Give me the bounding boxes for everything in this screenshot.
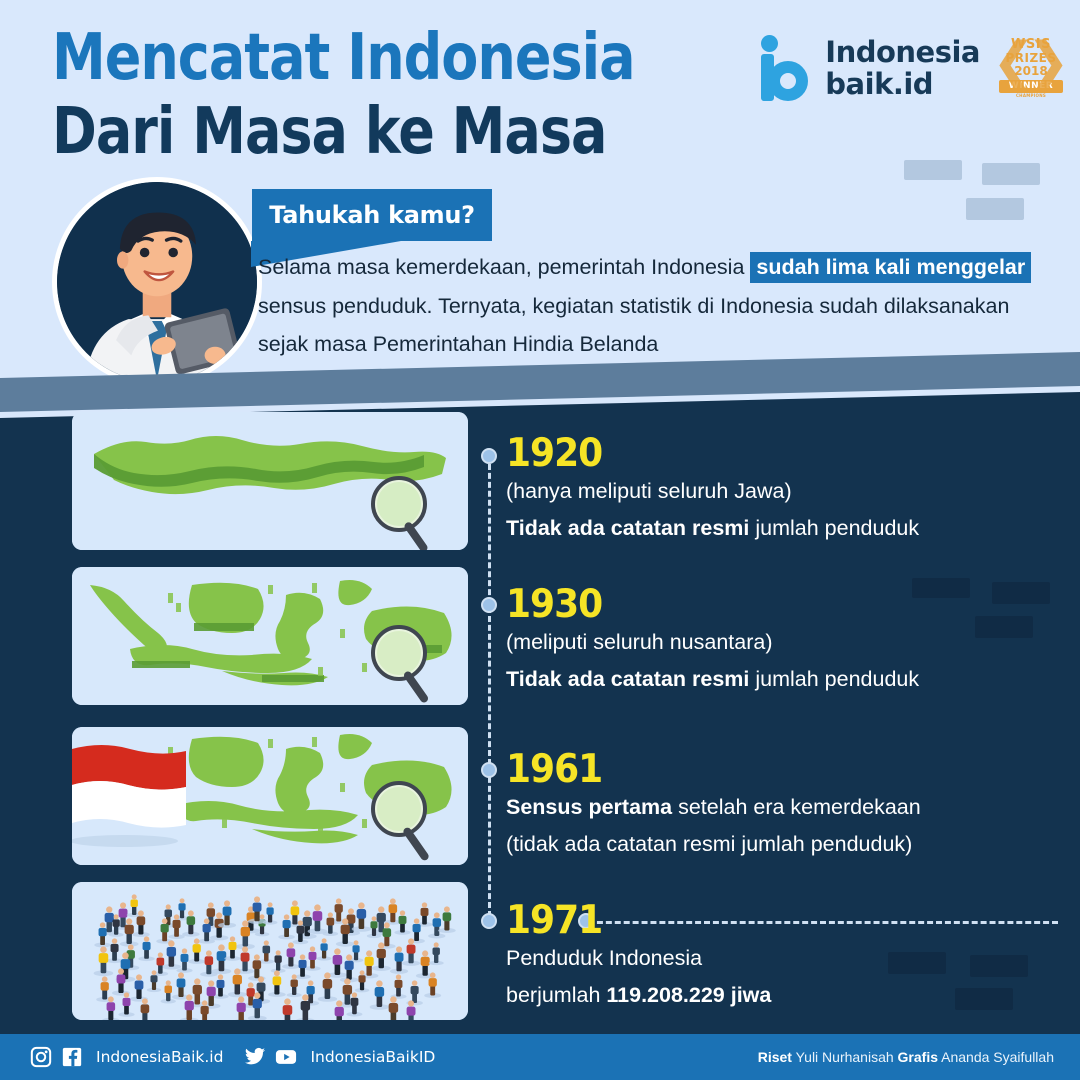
timeline-line-2: Tidak ada catatan resmi jumlah penduduk <box>506 664 1066 695</box>
title-line-1: Mencatat Indonesia <box>52 26 672 90</box>
intro-part-2: sensus penduduk. Ternyata, kegiatan stat… <box>258 294 1009 357</box>
map-indonesia-green-icon <box>72 567 468 705</box>
brand-name-line1: Indonesia <box>825 36 980 68</box>
timeline-dot-1930 <box>481 597 497 613</box>
card-image-1971 <box>72 882 468 1020</box>
redacted-block <box>904 160 962 180</box>
timeline-line-1: Sensus pertama setelah era kemerdekaan <box>506 792 1066 823</box>
wsis-award-badge-icon: ❮❯ WSIS PRIZES 2018 WINNER CHAMPIONS <box>994 28 1068 108</box>
map-indonesia-with-flag-icon <box>72 727 468 865</box>
social-handle-1: IndonesiaBaik.id <box>96 1048 223 1066</box>
timeline-line-2: (tidak ada catatan resmi jumlah penduduk… <box>506 829 1066 860</box>
card-image-1930 <box>72 567 468 705</box>
credit-name-1: Yuli Nurhanisah <box>792 1049 898 1065</box>
timeline-year: 1971 <box>506 901 1066 941</box>
redacted-block <box>982 163 1040 185</box>
award-subtitle: CHAMPIONS <box>999 94 1063 98</box>
timeline-line-2: Tidak ada catatan resmi jumlah penduduk <box>506 513 1066 544</box>
redacted-block <box>912 578 970 598</box>
instagram-icon[interactable] <box>30 1046 52 1068</box>
timeline-line-1-rest: setelah era kemerdekaan <box>672 795 921 819</box>
redacted-block <box>970 955 1028 977</box>
timeline-line-2-bold: 119.208.229 jiwa <box>606 983 771 1007</box>
tahukah-kamu-bubble: Tahukah kamu? <box>252 189 492 241</box>
map-java-green-icon <box>72 412 468 550</box>
intro-highlight: sudah lima kali menggelar <box>750 252 1031 283</box>
timeline-entry-1930: 1930 (meliputi seluruh nusantara) Tidak … <box>506 585 1066 695</box>
twitter-icon[interactable] <box>244 1046 266 1068</box>
redacted-block <box>966 198 1024 220</box>
timeline-year: 1920 <box>506 434 1066 474</box>
page-title: Mencatat Indonesia Dari Masa ke Masa <box>52 26 672 154</box>
timeline-entry-1920: 1920 (hanya meliputi seluruh Jawa) Tidak… <box>506 434 1066 544</box>
redacted-block <box>975 616 1033 638</box>
footer-bar: IndonesiaBaik.id IndonesiaBaikID Riset Y… <box>0 1034 1080 1080</box>
card-image-1920 <box>72 412 468 550</box>
timeline-line-2-rest: jumlah penduduk <box>749 667 919 691</box>
timeline-line-2-rest: jumlah penduduk <box>749 516 919 540</box>
timeline-dot-1961 <box>481 762 497 778</box>
social-links[interactable]: IndonesiaBaik.id IndonesiaBaikID <box>30 1046 447 1068</box>
timeline-entry-1961: 1961 Sensus pertama setelah era kemerdek… <box>506 750 1066 860</box>
credit-role-2: Grafis <box>898 1049 938 1065</box>
timeline-dot-1920 <box>481 448 497 464</box>
timeline-line-2-bold: Tidak ada catatan resmi <box>506 667 749 691</box>
indonesiabaik-logo-icon <box>759 35 811 101</box>
credits: Riset Yuli Nurhanisah Grafis Ananda Syai… <box>758 1049 1054 1065</box>
timeline-vertical-line <box>488 455 491 917</box>
timeline-year: 1961 <box>506 750 1066 790</box>
infographic-root: Mencatat Indonesia Dari Masa ke Masa Ind… <box>0 0 1080 1080</box>
credit-role-1: Riset <box>758 1049 792 1065</box>
bubble-label: Tahukah kamu? <box>269 201 475 229</box>
redacted-block <box>992 582 1050 604</box>
avatar <box>52 177 262 387</box>
card-image-1961 <box>72 727 468 865</box>
redacted-block <box>888 952 946 974</box>
timeline-line-1: (hanya meliputi seluruh Jawa) <box>506 476 1066 507</box>
redacted-block <box>955 988 1013 1010</box>
timeline-line-2-pre: berjumlah <box>506 983 606 1007</box>
intro-part-1: Selama masa kemerdekaan, pemerintah Indo… <box>258 255 750 279</box>
facebook-icon[interactable] <box>61 1046 83 1068</box>
title-line-2: Dari Masa ke Masa <box>52 100 672 164</box>
credit-name-2: Ananda Syaifullah <box>938 1049 1054 1065</box>
brand-name: Indonesia baik.id <box>825 36 980 101</box>
timeline-dot-1971 <box>481 913 497 929</box>
timeline-line-2-bold: Tidak ada catatan resmi <box>506 516 749 540</box>
youtube-icon[interactable] <box>275 1046 297 1068</box>
intro-paragraph: Selama masa kemerdekaan, pemerintah Indo… <box>258 248 1058 364</box>
timeline-line-1-bold: Sensus pertama <box>506 795 672 819</box>
brand-logo-area[interactable]: Indonesia baik.id ❮❯ WSIS PRIZES 2018 WI… <box>759 28 1068 108</box>
man-with-tablet-illustration <box>57 182 257 382</box>
social-handle-2: IndonesiaBaikID <box>310 1048 435 1066</box>
brand-name-line2: baik.id <box>825 68 980 100</box>
crowd-of-people-icon <box>72 882 468 1020</box>
